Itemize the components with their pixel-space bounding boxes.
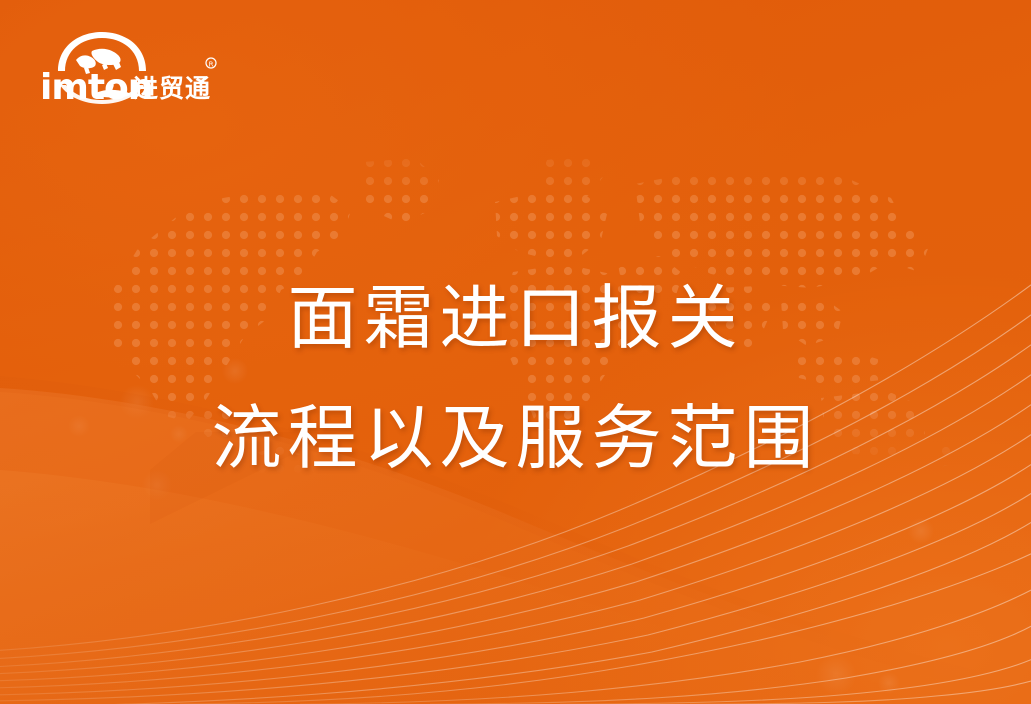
- registered-trademark-icon: R: [206, 58, 216, 69]
- poster-banner: imton 进贸通 R 面霜进口报关 流程以及服务范围: [0, 0, 1031, 704]
- logo-chinese-text: 进贸通: [133, 74, 211, 103]
- brand-logo[interactable]: imton 进贸通 R: [40, 27, 220, 105]
- svg-text:R: R: [209, 61, 214, 69]
- title-line-1: 面霜进口报关: [0, 258, 1031, 378]
- title-line-2: 流程以及服务范围: [0, 378, 1031, 498]
- title-block: 面霜进口报关 流程以及服务范围: [0, 258, 1031, 498]
